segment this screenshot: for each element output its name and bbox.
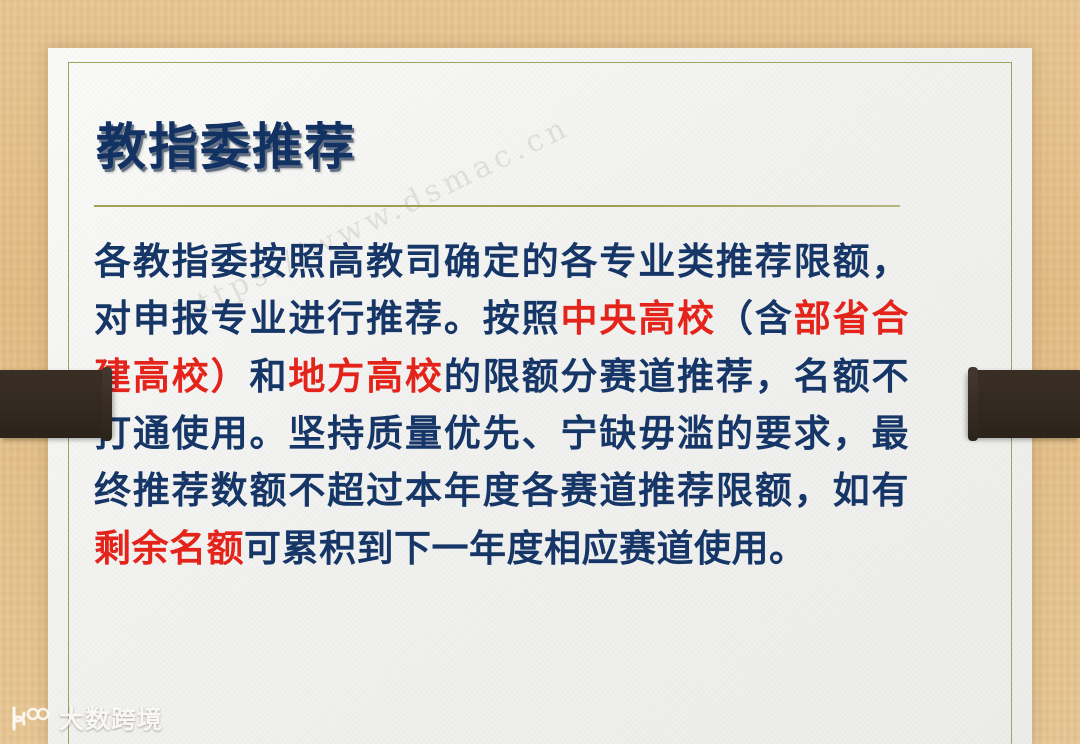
body-segment: 可累积到下一年度相应赛道使用。 — [244, 527, 807, 570]
ribbon-bar-left — [0, 370, 112, 438]
ribbon-cap-right — [968, 367, 978, 441]
body-segment-highlight: 中央高校 — [561, 297, 717, 340]
body-paragraph: 各教指委按照高教司确定的各专业类推荐限额，对申报专业进行推荐。按照中央高校（含部… — [94, 233, 909, 577]
slide-root: https://www.dsmac.cn 教指委推荐 各教指委按照高教司确定的各… — [0, 0, 1080, 744]
body-segment-highlight: 剩余名额 — [94, 527, 244, 570]
title-divider — [94, 205, 900, 207]
brand-name: 大数跨境 — [59, 700, 163, 736]
slide-content: 教指委推荐 各教指委按照高教司确定的各专业类推荐限额，对申报专业进行推荐。按照中… — [94, 120, 1012, 614]
ribbon-bar-right — [968, 370, 1080, 438]
body-segment: （含 — [716, 297, 794, 340]
k-infinity-logo-icon — [8, 704, 52, 732]
page-title: 教指委推荐 — [96, 120, 1012, 175]
ribbon-cap-left — [102, 367, 112, 441]
brand-watermark: 大数跨境 — [8, 700, 163, 736]
body-segment-highlight: 地方高校 — [288, 355, 444, 398]
body-segment: 和 — [250, 355, 289, 398]
